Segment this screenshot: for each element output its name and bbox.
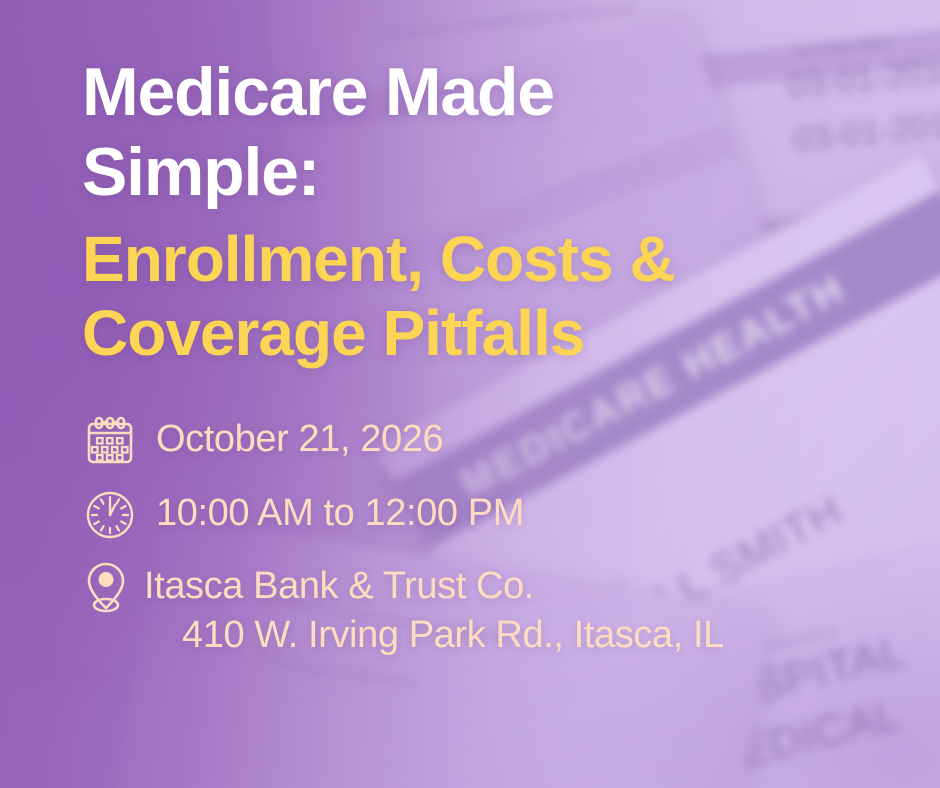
title-line-1: Medicare Made: [82, 52, 940, 132]
event-date: October 21, 2026: [156, 412, 443, 464]
subtitle-line-2: Coverage Pitfalls: [82, 296, 940, 370]
event-time: 10:00 AM to 12:00 PM: [156, 486, 524, 538]
location-pin-icon: [82, 560, 130, 618]
event-location-row: Itasca Bank & Trust Co. 410 W. Irving Pa…: [82, 560, 940, 660]
event-details: October 21, 2026: [82, 412, 940, 660]
event-location: Itasca Bank & Trust Co. 410 W. Irving Pa…: [144, 560, 724, 660]
title-line-2: Simple:: [82, 132, 940, 212]
clock-icon: [82, 486, 138, 544]
subtitle-line-1: Enrollment, Costs &: [82, 222, 940, 296]
event-time-row: 10:00 AM to 12:00 PM: [82, 486, 940, 544]
calendar-icon: [82, 412, 138, 470]
venue-address: 410 W. Irving Park Rd., Itasca, IL: [182, 611, 724, 660]
flyer-title: Medicare Made Simple:: [82, 52, 940, 212]
flyer-subtitle: Enrollment, Costs & Coverage Pitfalls: [82, 222, 940, 370]
event-flyer: JOHN L S Medicare Number/Número de Medic…: [0, 0, 940, 788]
venue-name: Itasca Bank & Trust Co.: [144, 565, 534, 607]
flyer-content: Medicare Made Simple: Enrollment, Costs …: [0, 0, 940, 788]
event-date-row: October 21, 2026: [82, 412, 940, 470]
